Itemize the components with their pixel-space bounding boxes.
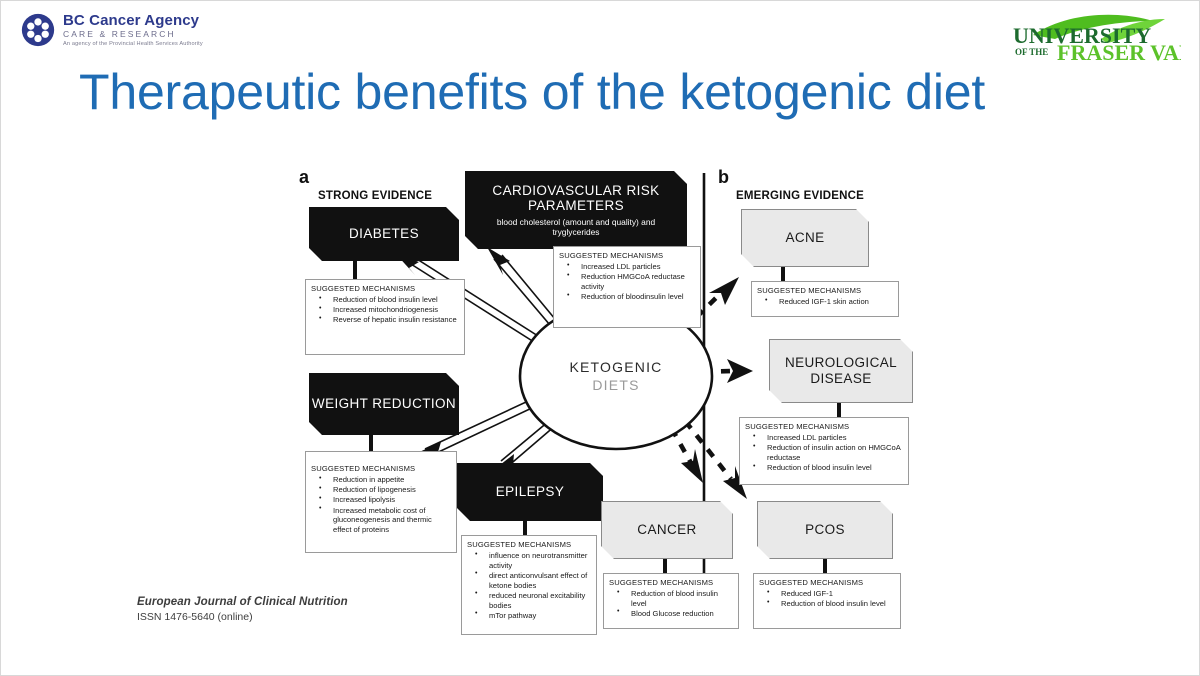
citation-issn: ISSN 1476-5640 (online) <box>137 611 348 623</box>
mech-item: Increased LDL particles <box>745 433 903 443</box>
panel-letter-b: b <box>718 167 729 188</box>
mech-header-acne: SUGGESTED MECHANISMS <box>757 286 893 295</box>
panel-heading-emerging-evidence: EMERGING EVIDENCE <box>736 190 864 202</box>
citation-journal: European Journal of Clinical Nutrition <box>137 596 348 608</box>
mech-header-cancer: SUGGESTED MECHANISMS <box>609 578 733 587</box>
bc-cancer-flower-icon <box>21 13 55 47</box>
mech-item: Increased metabolic cost of gluconeogene… <box>311 506 451 535</box>
mech-item: Reduction of blood insulin level <box>609 589 733 608</box>
node-pcos-title: PCOS <box>758 522 892 538</box>
mech-item: Reduction in appetite <box>311 475 451 485</box>
panel-heading-strong-evidence: STRONG EVIDENCE <box>318 190 432 202</box>
mechanisms-epilepsy: SUGGESTED MECHANISMS influence on neurot… <box>461 535 597 635</box>
center-ellipse-label: KETOGENIC DIETS <box>536 359 696 394</box>
node-neurological-disease-title: NEUROLOGICAL DISEASE <box>770 355 912 386</box>
node-diabetes[interactable]: DIABETES <box>309 207 459 261</box>
mech-item: Increased lipolysis <box>311 495 451 505</box>
panel-letter-a: a <box>299 167 309 188</box>
mech-item: Reduction of blood insulin level <box>745 463 903 473</box>
citation: European Journal of Clinical Nutrition I… <box>137 596 348 623</box>
ufv-line3: FRASER VALLEY <box>1057 40 1181 65</box>
node-cardiovascular-subtitle: blood cholesterol (amount and quality) a… <box>473 217 679 237</box>
node-cancer[interactable]: CANCER <box>601 501 733 559</box>
node-cancer-title: CANCER <box>602 522 732 538</box>
mech-header-weight-reduction: SUGGESTED MECHANISMS <box>311 464 451 473</box>
mechanisms-cardiovascular: SUGGESTED MECHANISMS Increased LDL parti… <box>553 246 701 328</box>
mech-item: Reduction of insulin action on HMGCoA re… <box>745 443 903 462</box>
node-diabetes-title: DIABETES <box>309 226 459 242</box>
mech-item: Reduction of blood insulin level <box>759 599 895 609</box>
node-epilepsy-title: EPILEPSY <box>457 484 603 500</box>
mech-item: direct anticonvulsant effect of ketone b… <box>467 571 591 590</box>
mech-item: Reduction of lipogenesis <box>311 485 451 495</box>
mech-item: Reduction of bloodinsulin level <box>559 292 695 302</box>
mech-item: influence on neurotransmitter activity <box>467 551 591 570</box>
node-neurological-disease[interactable]: NEUROLOGICAL DISEASE <box>769 339 913 403</box>
mech-item: Reduction of blood insulin level <box>311 295 459 305</box>
mechanisms-diabetes: SUGGESTED MECHANISMS Reduction of blood … <box>305 279 465 355</box>
node-acne-title: ACNE <box>742 230 868 246</box>
bc-cancer-agency-logo: BC Cancer Agency CARE & RESEARCH An agen… <box>21 13 203 47</box>
node-cardiovascular-title: CARDIOVASCULAR RISK PARAMETERS <box>473 183 679 214</box>
node-cardiovascular[interactable]: CARDIOVASCULAR RISK PARAMETERS blood cho… <box>465 171 687 249</box>
mechanisms-pcos: SUGGESTED MECHANISMS Reduced IGF-1 Reduc… <box>753 573 901 629</box>
mech-header-pcos: SUGGESTED MECHANISMS <box>759 578 895 587</box>
node-pcos[interactable]: PCOS <box>757 501 893 559</box>
mech-item: Reduction HMGCoA reductase activity <box>559 272 695 291</box>
page-title: Therapeutic benefits of the ketogenic di… <box>79 63 1139 121</box>
ufv-logo: UNIVERSITY OF THE FRASER VALLEY <box>981 9 1181 65</box>
ufv-line2: OF THE <box>1015 47 1048 57</box>
bc-logo-agency-line: An agency of the Provincial Health Servi… <box>63 42 203 48</box>
slide: BC Cancer Agency CARE & RESEARCH An agen… <box>1 1 1199 675</box>
mech-item: Reduced IGF-1 skin action <box>757 297 893 307</box>
mechanisms-weight-reduction: SUGGESTED MECHANISMS Reduction in appeti… <box>305 451 457 553</box>
bc-logo-name: BC Cancer Agency <box>63 13 203 28</box>
center-label-line2: DIETS <box>592 377 639 393</box>
mech-item: Increased mitochondriogenesis <box>311 305 459 315</box>
mech-item: mTor pathway <box>467 611 591 621</box>
mechanisms-cancer: SUGGESTED MECHANISMS Reduction of blood … <box>603 573 739 629</box>
mech-item: reduced neuronal excitability bodies <box>467 591 591 610</box>
mech-item: Increased LDL particles <box>559 262 695 272</box>
mech-item: Reduced IGF-1 <box>759 589 895 599</box>
mech-item: Reverse of hepatic insulin resistance <box>311 315 459 325</box>
node-weight-reduction-title: WEIGHT REDUCTION <box>309 396 459 412</box>
mech-header-diabetes: SUGGESTED MECHANISMS <box>311 284 459 293</box>
mech-header-neurological: SUGGESTED MECHANISMS <box>745 422 903 431</box>
stem-diabetes <box>353 261 357 281</box>
ketogenic-diet-diagram: a STRONG EVIDENCE b EMERGING EVIDENCE KE… <box>291 161 941 641</box>
mech-header-epilepsy: SUGGESTED MECHANISMS <box>467 540 591 549</box>
mechanisms-acne: SUGGESTED MECHANISMS Reduced IGF-1 skin … <box>751 281 899 317</box>
mech-item: Blood Glucose reduction <box>609 609 733 619</box>
node-weight-reduction[interactable]: WEIGHT REDUCTION <box>309 373 459 435</box>
node-acne[interactable]: ACNE <box>741 209 869 267</box>
bc-logo-tagline: CARE & RESEARCH <box>63 30 203 39</box>
center-label-line1: KETOGENIC <box>569 359 662 375</box>
node-epilepsy[interactable]: EPILEPSY <box>457 463 603 521</box>
mech-header-cardiovascular: SUGGESTED MECHANISMS <box>559 251 695 260</box>
mechanisms-neurological-disease: SUGGESTED MECHANISMS Increased LDL parti… <box>739 417 909 485</box>
